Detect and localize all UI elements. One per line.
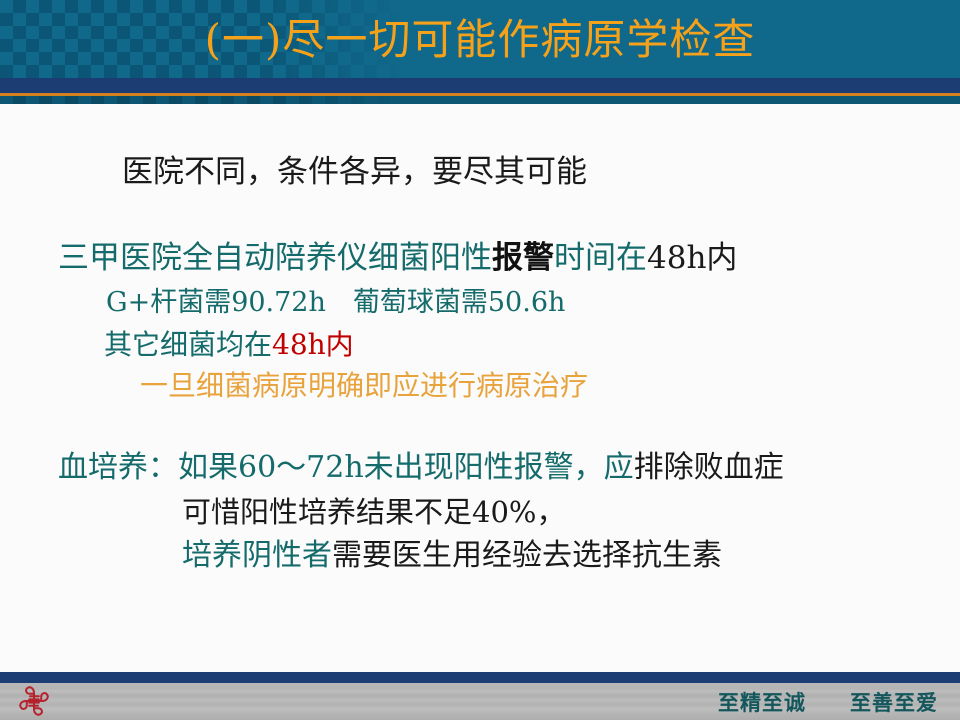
- footer-motto: 至精至诚 至善至爱: [718, 687, 938, 717]
- slide-footer: 至精至诚 至善至爱: [0, 683, 960, 720]
- auto-culture-seg3: 时间在: [554, 240, 647, 276]
- pity-text: 可惜阳性培养结果不足40%，: [182, 495, 565, 529]
- slide-title: (一)尽一切可能作病原学检查: [0, 0, 960, 78]
- auto-culture-seg4: 48h内: [647, 240, 737, 276]
- header-teal-band: [0, 96, 960, 104]
- negative-line-seg2: 需要医生用经验去选择抗生素: [332, 538, 722, 573]
- blood-culture-seg1: 血培养：如果60～72h未出现阳性报警，应: [58, 450, 634, 485]
- slide-body: 医院不同，条件各异，要尽其可能 三甲医院全自动陪养仪细菌阳性报警时间在48h内 …: [0, 104, 960, 664]
- slide-header: (一)尽一切可能作病原学检查: [0, 0, 960, 78]
- negative-line-seg1: 培养阴性者: [182, 538, 332, 573]
- auto-culture-seg2: 报警: [492, 240, 554, 276]
- gram-line-text: G+杆菌需90.72h 葡萄球菌需50.6h: [106, 287, 565, 318]
- text-line-blood-culture: 血培养：如果60～72h未出现阳性报警，应排除败血症: [58, 452, 784, 484]
- once-confirmed-text: 一旦细菌病原明确即应进行病原治疗: [140, 369, 588, 402]
- other-bacteria-seg1: 其它细菌均在: [104, 328, 272, 361]
- intro-text: 医院不同，条件各异，要尽其可能: [122, 154, 587, 190]
- auto-culture-seg1: 三甲医院全自动陪养仪细菌阳性: [58, 240, 492, 276]
- footer-navy-band: [0, 672, 960, 683]
- hospital-pinwheel-logo-icon: [12, 683, 56, 720]
- text-line-negative-culture: 培养阴性者需要医生用经验去选择抗生素: [182, 540, 722, 572]
- header-navy-band: [0, 78, 960, 93]
- text-line-other-bacteria: 其它细菌均在48h内: [104, 330, 354, 359]
- text-line-gram-results: G+杆菌需90.72h 葡萄球菌需50.6h: [106, 289, 565, 317]
- header-teal-checker-pattern: [0, 96, 420, 104]
- other-bacteria-seg2: 48h内: [272, 328, 354, 361]
- slide-canvas: (一)尽一切可能作病原学检查 医院不同，条件各异，要尽其可能 三甲医院全自动陪养…: [0, 0, 960, 720]
- text-line-pity: 可惜阳性培养结果不足40%，: [182, 497, 565, 527]
- text-line-once-confirmed: 一旦细菌病原明确即应进行病原治疗: [140, 371, 588, 400]
- blood-culture-seg2: 排除败血症: [634, 450, 784, 485]
- text-line-intro: 医院不同，条件各异，要尽其可能: [122, 156, 587, 189]
- text-line-auto-culture: 三甲医院全自动陪养仪细菌阳性报警时间在48h内: [58, 242, 737, 275]
